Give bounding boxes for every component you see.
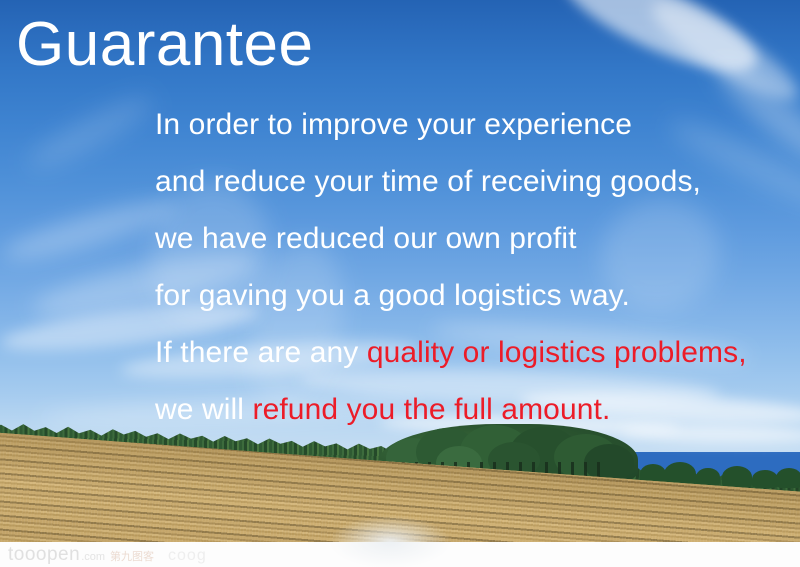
guarantee-line: If there are any quality or logistics pr… [155, 324, 795, 381]
line-highlight-text: refund you the full amount. [252, 393, 610, 426]
shrub-icon [776, 468, 800, 488]
line-plain-text: In order to improve your experience [155, 108, 632, 141]
page-title: Guarantee [16, 14, 314, 76]
watermark-domain: .com [81, 551, 105, 563]
guarantee-line: for gaving you a good logistics way. [155, 267, 795, 324]
guarantee-line: In order to improve your experience [155, 96, 795, 153]
watermark-tail: coog [168, 547, 207, 565]
footer-haze [330, 516, 450, 567]
cloud-streak-icon [552, 0, 768, 90]
line-plain-text: for gaving you a good logistics way. [155, 279, 630, 312]
shrub-icon [752, 470, 778, 488]
line-plain-text: we will [155, 393, 252, 426]
watermark: tooopen .com 第九图客 coog [0, 544, 207, 566]
shrub-icon [722, 466, 752, 488]
shrub-icon [696, 468, 720, 486]
line-highlight-text: quality or logistics problems, [367, 336, 747, 369]
guarantee-text-block: In order to improve your experience and … [155, 96, 795, 438]
guarantee-line: we will refund you the full amount. [155, 381, 795, 438]
guarantee-banner: Guarantee In order to improve your exper… [0, 0, 800, 567]
guarantee-line: and reduce your time of receiving goods, [155, 153, 795, 210]
cloud-streak-icon [0, 191, 181, 269]
footer-watermark-bar: tooopen .com 第九图客 coog [0, 542, 800, 567]
watermark-brand: tooopen [8, 544, 80, 566]
guarantee-line: we have reduced our own profit [155, 210, 795, 267]
cloud-streak-icon [22, 89, 158, 178]
line-plain-text: we have reduced our own profit [155, 222, 577, 255]
line-plain-text: If there are any [155, 336, 367, 369]
line-plain-text: and reduce your time of receiving goods, [155, 165, 701, 198]
watermark-chinese: 第九图客 [110, 548, 154, 564]
